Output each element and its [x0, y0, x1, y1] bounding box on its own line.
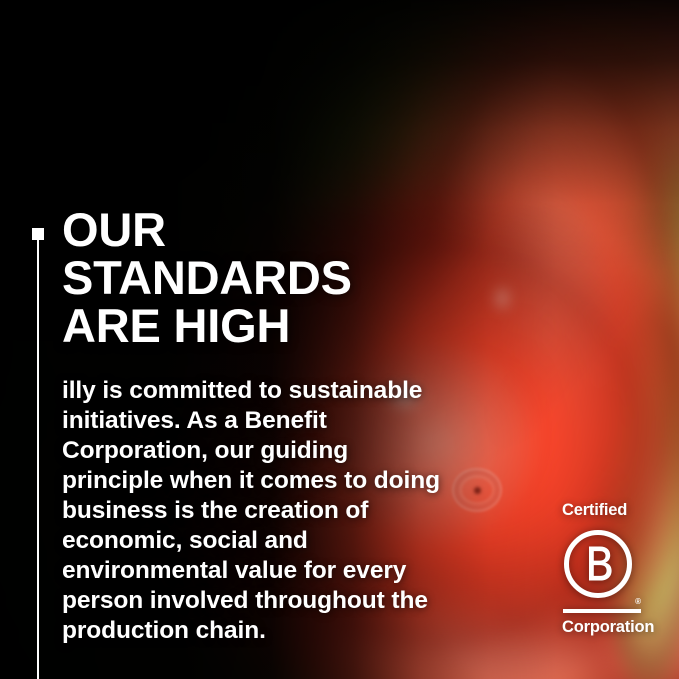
- vertical-rule-icon: [37, 238, 39, 679]
- headline-line-2: STANDARDS: [62, 254, 462, 302]
- copy-block: OUR STANDARDS ARE HIGH illy is committed…: [62, 206, 462, 646]
- bcorp-certified-label: Certified: [562, 500, 642, 520]
- page-title: OUR STANDARDS ARE HIGH: [62, 206, 462, 350]
- headline-line-3: ARE HIGH: [62, 302, 462, 350]
- bcorp-b-circle-icon: [563, 529, 633, 599]
- bcorp-corporation-label: Corporation: [562, 617, 642, 637]
- promo-banner: OUR STANDARDS ARE HIGH illy is committed…: [0, 0, 679, 679]
- bcorp-certification-logo: Certified ® Corporation: [562, 500, 642, 637]
- body-paragraph: illy is committed to sustainable initiat…: [62, 376, 440, 646]
- headline-line-1: OUR: [62, 206, 462, 254]
- registered-trademark-icon: ®: [635, 598, 641, 606]
- bcorp-divider-rule: ®: [563, 609, 641, 613]
